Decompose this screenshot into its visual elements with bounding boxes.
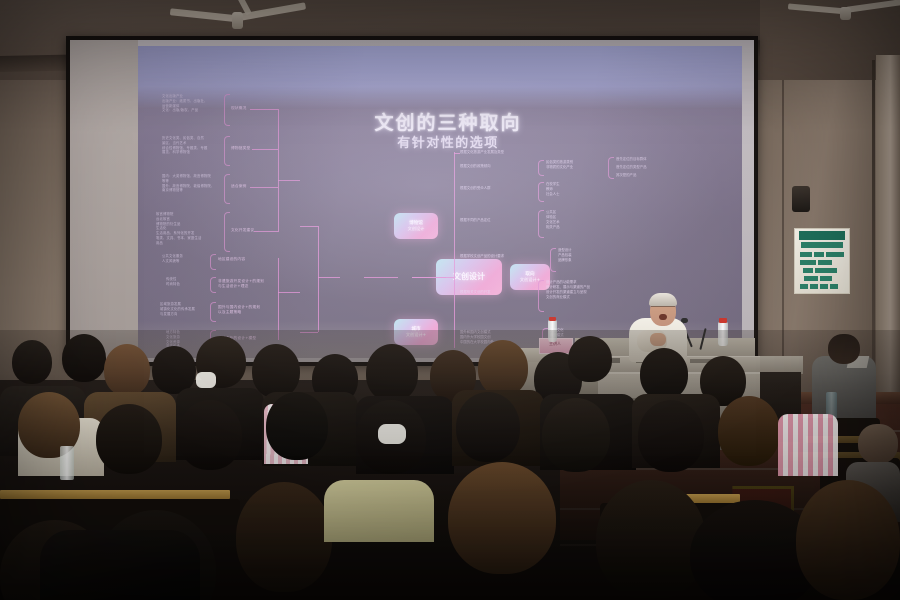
slide-connector — [318, 277, 340, 278]
slide-branch-label: 地区建设的内容 — [218, 257, 245, 262]
slide-brace — [538, 160, 544, 176]
slide-brace — [224, 212, 230, 252]
slide-brace — [538, 182, 544, 202]
attendee-head — [366, 344, 418, 402]
attendee-head — [12, 340, 52, 384]
face-mask — [196, 372, 216, 388]
projection-screen-unlit-margin — [70, 40, 138, 362]
slide-leaf-text: 传统性 时尚特色 — [166, 277, 206, 287]
attendee-head — [178, 400, 242, 470]
notice-board-row — [804, 276, 818, 281]
water-bottle — [60, 446, 74, 480]
slide-right-item: 根据文创的受众人群 — [460, 186, 534, 191]
slide-right-subitem: 设计产品的功能需求 设计研发、展示与渠道的产品 设计开发的渠道建立与呈现 文创的… — [546, 280, 632, 300]
attendee-head — [236, 482, 332, 592]
slide-right-subsub: 首先定位的目标群体 — [616, 157, 668, 162]
node-label-line2: 文创设计+ — [520, 277, 540, 282]
attendee-yellow-shirt — [324, 480, 434, 542]
attendee-head — [638, 400, 704, 472]
slide-connector — [278, 258, 279, 340]
slide-branch-label: 适合案例 — [231, 184, 247, 189]
bottle-cap — [719, 318, 727, 323]
slide-connector — [300, 226, 318, 227]
notice-board — [794, 228, 850, 294]
notice-board-row — [826, 252, 844, 257]
slide-connector — [412, 277, 454, 278]
slide-right-subitem: 民俗类的旅游类别 非物质的文化产业 — [546, 160, 604, 170]
attendee-head — [456, 392, 520, 462]
attendee-head — [568, 336, 612, 382]
hair-accessory — [378, 424, 406, 444]
slide-branch-label: 文化开发建议 — [231, 228, 254, 233]
notice-board-title — [799, 231, 845, 240]
slide-brace — [550, 248, 556, 272]
attendee-head — [252, 344, 300, 398]
attendee-head — [266, 392, 328, 460]
audience-seated-rows: DC ★ — [0, 330, 900, 600]
slide-connector — [454, 152, 455, 348]
slide-right-subsub: 首先定位的类型产品 — [616, 165, 668, 170]
slide-connector — [278, 180, 300, 181]
attendee-head — [796, 480, 900, 600]
node-label-center: 文创设计 — [453, 272, 485, 282]
speaker-mouth — [659, 314, 667, 320]
slide-branch-label: 博物馆类型 — [231, 146, 250, 151]
desk-top — [0, 490, 230, 499]
slide-brace — [538, 210, 544, 238]
notice-board-row — [800, 252, 812, 257]
slide-connector — [318, 226, 319, 277]
slide-right-subitem: 在校学生 教师 社会人士 — [546, 182, 596, 197]
attendee-head — [718, 396, 780, 466]
slide-branch-label: 现状概况 — [231, 106, 247, 111]
slide-brace — [224, 174, 230, 204]
notice-board-row — [814, 252, 824, 257]
slide-connector — [250, 187, 278, 188]
notice-board-subtitle — [801, 242, 843, 248]
wall-speaker-box — [792, 186, 810, 212]
attendee-torso — [40, 530, 200, 600]
slide-connector — [252, 149, 278, 150]
attendee-head — [62, 334, 106, 382]
attendee-head — [478, 340, 528, 396]
slide-connector — [318, 277, 319, 332]
notice-board-row — [820, 276, 832, 281]
attendee-head — [104, 344, 150, 396]
attendee-head — [640, 348, 688, 400]
slide-leaf-text: 文化出版产业 出版产业：纸质书、出版社、 运营新媒体 文化：出版/版权、产品 — [162, 94, 220, 113]
attendee-head — [152, 346, 196, 394]
notice-board-row — [800, 284, 808, 289]
lecture-hall-photo: 文创的三种取向 有针对性的选项 文化出版产业 出版产业：纸质书、出版社、 运营新… — [0, 0, 900, 600]
slide-right-subitem: 公共区 体验区 文化艺术 相关产品 — [546, 210, 596, 230]
notice-board-row — [810, 284, 818, 289]
slide-brace — [210, 254, 216, 270]
slide-title: 文创的三种取向 — [298, 108, 598, 135]
mindmap-node-upper-left[interactable]: 博物馆 文创设计 — [394, 213, 438, 239]
slide-branch-label: 国外与国内设计+的规划 以及主题策略 — [218, 305, 278, 315]
attendee-head — [448, 462, 556, 574]
attendee-head — [96, 404, 162, 474]
attendee-head — [542, 398, 610, 472]
slide-brace — [538, 280, 544, 312]
notice-board-row — [800, 260, 816, 265]
mindmap-node-right[interactable]: 取向 文创设计+ — [510, 264, 550, 290]
slide-brace — [210, 302, 216, 322]
slide-branch-label: 非遗旅游开发设计+的规划 与生活设计+理念 — [218, 279, 278, 289]
slide-subtitle: 有针对性的选项 — [298, 132, 598, 151]
slide-brace — [224, 94, 230, 126]
slide-right-item: 根据不同的产品定位 — [460, 218, 534, 223]
slide-right-item: 根据文创的政策倾向 — [460, 164, 534, 169]
notice-board-row — [818, 260, 832, 265]
slide-brace — [210, 277, 216, 293]
bottle-cap — [549, 317, 556, 321]
speaker-hair — [649, 293, 677, 306]
slide-brace — [608, 157, 614, 179]
notice-board-row — [815, 268, 837, 273]
node-label-line2: 文创设计 — [408, 226, 425, 231]
slide-right-item: 根据学校文创产品的设计要求 — [460, 254, 548, 259]
slide-leaf-text: 区域旅游发展 城镇化文化的传承发展 与发展方向 — [160, 302, 206, 316]
slide-right-subsub: 其次是的产品 — [616, 173, 668, 178]
slide-leaf-text: 故宫博物院 台北故宫 博物院的衍生品 生活化 生活用品、系列化的开发 笔类、文具… — [156, 212, 220, 245]
slide-right-item: 根据相关文创的开发 — [460, 290, 534, 295]
attendee-head — [596, 480, 706, 600]
notice-board-row — [830, 284, 838, 289]
slide-connector — [364, 277, 398, 278]
slide-brace — [224, 136, 230, 166]
slide-right-item: 根据文化旅游产业发展及类型 — [460, 150, 538, 155]
slide-connector — [454, 153, 460, 154]
slide-connector — [278, 109, 279, 232]
slide-connector — [250, 109, 278, 110]
slide-right-subitem: 造型设计 产品包装 品牌形象 — [558, 248, 608, 263]
attendee-striped-shirt — [778, 414, 838, 476]
slide-connector — [254, 231, 278, 232]
slide-leaf-text: 历史文化类、民俗类、自然 景区、当代艺术 综合性博物馆、专题类、专题 展览、科学… — [162, 136, 222, 155]
slide-connector — [278, 292, 300, 293]
slide-leaf-text: 公共文化服务 人文风貌等 — [162, 254, 206, 264]
speaker-glasses — [651, 306, 675, 311]
notice-board-row — [803, 268, 813, 273]
slide-leaf-text: 国内：大英博物馆、故宫博物院 等等 国外：故宫博物院、敦煌博物院、 南京博物馆等 — [162, 174, 222, 193]
notice-board-row — [820, 284, 828, 289]
